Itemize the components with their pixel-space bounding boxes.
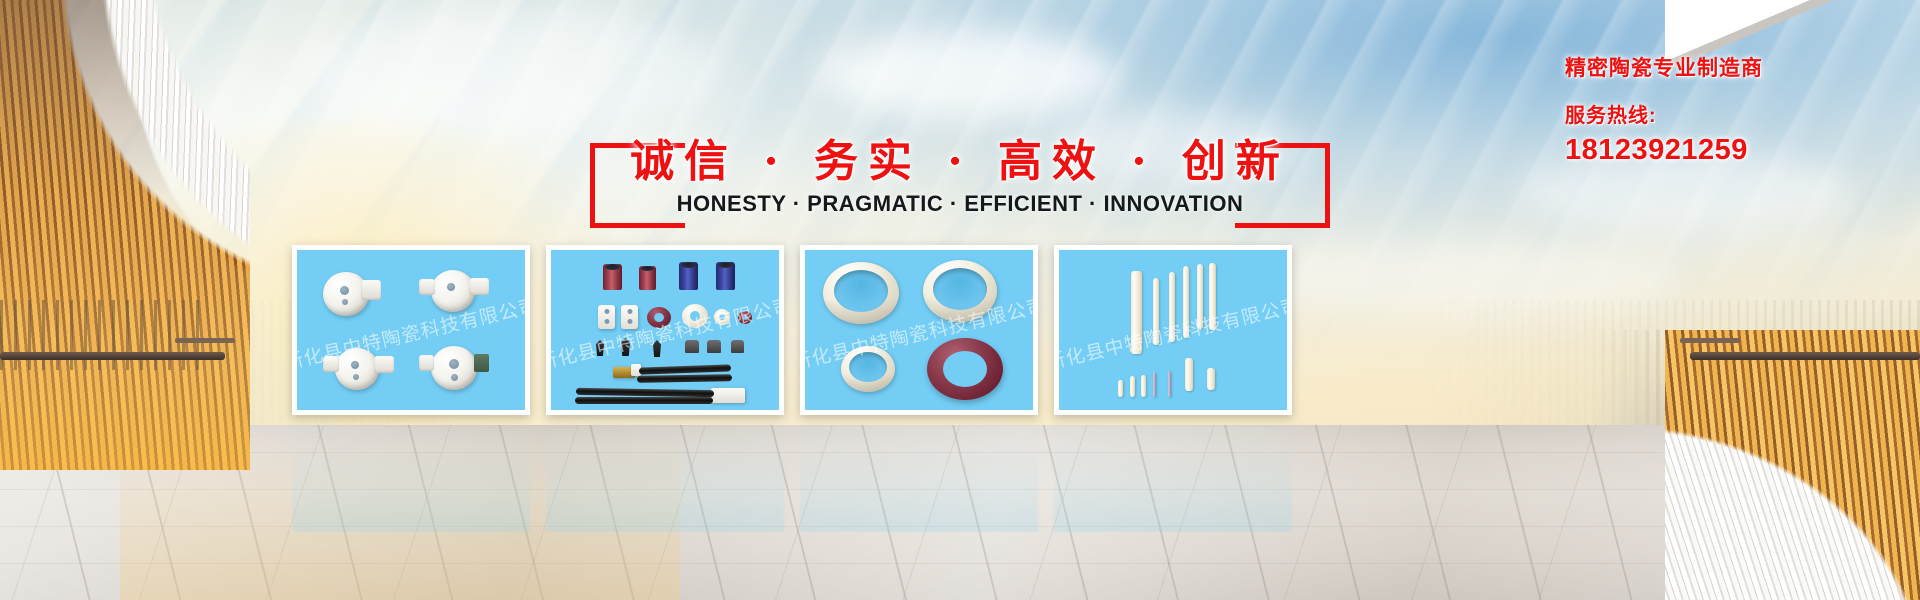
product-panel-ceramic-rings[interactable]: 新化县中特陶瓷科技有限公司 [800, 245, 1038, 415]
panel-reflection [546, 412, 784, 532]
ceramic-rod [1131, 271, 1142, 354]
panel-inner: 新化县中特陶瓷科技有限公司 [551, 250, 779, 410]
wire-lead [637, 374, 732, 383]
ceramic-tube-blue [716, 262, 735, 290]
ceramic-lamp-holder [335, 348, 379, 390]
panel-reflections [292, 412, 1488, 532]
ceramic-ring-maroon [647, 307, 671, 328]
ceramic-ring-white [714, 309, 730, 325]
contact-block: 精密陶瓷专业制造商 服务热线: 18123921259 [1565, 52, 1895, 167]
ring-bore [849, 352, 887, 382]
white-curved-ribbon-right [1665, 200, 1920, 600]
cloud [820, 30, 1120, 120]
plate-hole [627, 319, 632, 324]
ceramic-tube-red [639, 266, 656, 290]
ceramic-rod-short [1130, 376, 1135, 397]
slogan-block: 诚信 · 务实 · 高效 · 创新 HONESTY · PRAGMATIC · … [560, 125, 1360, 255]
product-panel-ceramic-rods[interactable]: 新化县中特陶瓷科技有限公司 [1054, 245, 1292, 415]
product-panel-ceramic-tubes[interactable]: 新化县中特陶瓷科技有限公司 [546, 245, 784, 415]
architecture-left [0, 0, 250, 470]
handrail-left [0, 352, 225, 360]
slogan-chinese: 诚信 · 务实 · 高效 · 创新 [560, 125, 1360, 189]
ceramic-rod [1183, 266, 1189, 338]
ceramic-tube-red [603, 264, 622, 290]
handrail-right [1690, 352, 1920, 360]
white-curved-ribbon-left [0, 0, 250, 470]
ceramic-ring-white [682, 304, 708, 328]
holder-hole [353, 374, 359, 380]
slogan-english: HONESTY · PRAGMATIC · EFFICIENT · INNOVA… [560, 191, 1360, 217]
watermark-text: 新化县中特陶瓷科技有限公司 [551, 291, 779, 376]
tube-bore [641, 266, 654, 271]
holder-hole [449, 359, 459, 369]
wire-lead [639, 364, 731, 374]
wire-connector [711, 388, 745, 403]
metal-clip [731, 340, 744, 353]
ceramic-ring-maroon [738, 311, 752, 324]
holder-side-tab [419, 279, 435, 295]
large-ceramic-ring [823, 262, 899, 324]
wire-lead [575, 397, 713, 404]
company-tagline: 精密陶瓷专业制造商 [1565, 52, 1895, 82]
ceramic-rod-thin [1153, 372, 1156, 397]
plate-hole [604, 319, 609, 324]
panel-reflection [1054, 412, 1292, 532]
metal-contact-pin [653, 340, 661, 357]
panel-reflection [292, 412, 530, 532]
product-panel-row: 新化县中特陶瓷科技有限公司 [292, 245, 1488, 405]
tube-bore [605, 264, 619, 270]
ring-bore [933, 268, 987, 310]
ceramic-lamp-holder [431, 346, 477, 390]
ceramic-rod [1209, 263, 1216, 330]
tube-bore [681, 262, 695, 268]
holder-hole [351, 361, 359, 369]
panel-inner: 新化县中特陶瓷科技有限公司 [805, 250, 1033, 410]
metal-clip [685, 340, 699, 353]
plate-hole [627, 309, 632, 314]
holder-side-tab [323, 356, 339, 372]
ring-bore [654, 313, 664, 322]
product-panel-ceramic-lamp-holders[interactable]: 新化县中特陶瓷科技有限公司 [292, 245, 530, 415]
small-ceramic-ring [841, 346, 895, 392]
ring-bore [834, 270, 888, 312]
ceramic-tube-blue [679, 262, 698, 290]
promotional-banner: 诚信 · 务实 · 高效 · 创新 HONESTY · PRAGMATIC · … [0, 0, 1920, 600]
ceramic-rod-short [1118, 380, 1123, 397]
ceramic-plate [598, 305, 615, 329]
holder-side-tab [419, 355, 434, 371]
metal-clip [707, 340, 721, 353]
ceramic-rod-short [1185, 358, 1193, 391]
ring-bore [690, 311, 700, 321]
hotline-phone-number[interactable]: 18123921259 [1565, 134, 1895, 167]
holder-hole [451, 374, 458, 381]
ceramic-rod [1153, 278, 1159, 345]
cloud [300, 10, 720, 130]
panel-inner: 新化县中特陶瓷科技有限公司 [297, 250, 525, 410]
ceramic-rod-thin [1168, 371, 1171, 397]
ring-bore [719, 314, 725, 320]
holder-side-tab [374, 356, 394, 373]
holder-hole [447, 283, 455, 291]
handrail-bracket-left [175, 338, 235, 343]
plate-hole [604, 309, 609, 314]
hotline-label: 服务热线: [1565, 99, 1895, 128]
holder-hole [342, 299, 348, 305]
tube-bore [718, 262, 732, 268]
panel-reflection [800, 412, 1038, 532]
ceramic-rod-short [1207, 368, 1215, 390]
metal-contact-pin [621, 338, 630, 356]
ring-bore [743, 315, 748, 320]
panel-inner: 新化县中特陶瓷科技有限公司 [1059, 250, 1287, 410]
handrail-bracket-right [1680, 338, 1740, 343]
ceramic-rod [1197, 264, 1203, 329]
metal-contact-pin [596, 340, 604, 356]
ceramic-plate [621, 305, 638, 329]
ceramic-rod [1169, 272, 1175, 342]
holder-side-tab [361, 280, 381, 300]
large-ceramic-ring [923, 260, 997, 322]
maroon-ceramic-ring [927, 338, 1003, 400]
holder-side-tab [469, 278, 489, 295]
ceramic-rod-short [1141, 375, 1146, 397]
holder-terminal-block [474, 354, 489, 372]
ring-bore [943, 351, 987, 387]
holder-hole [340, 286, 349, 295]
wire-lead [576, 388, 714, 397]
